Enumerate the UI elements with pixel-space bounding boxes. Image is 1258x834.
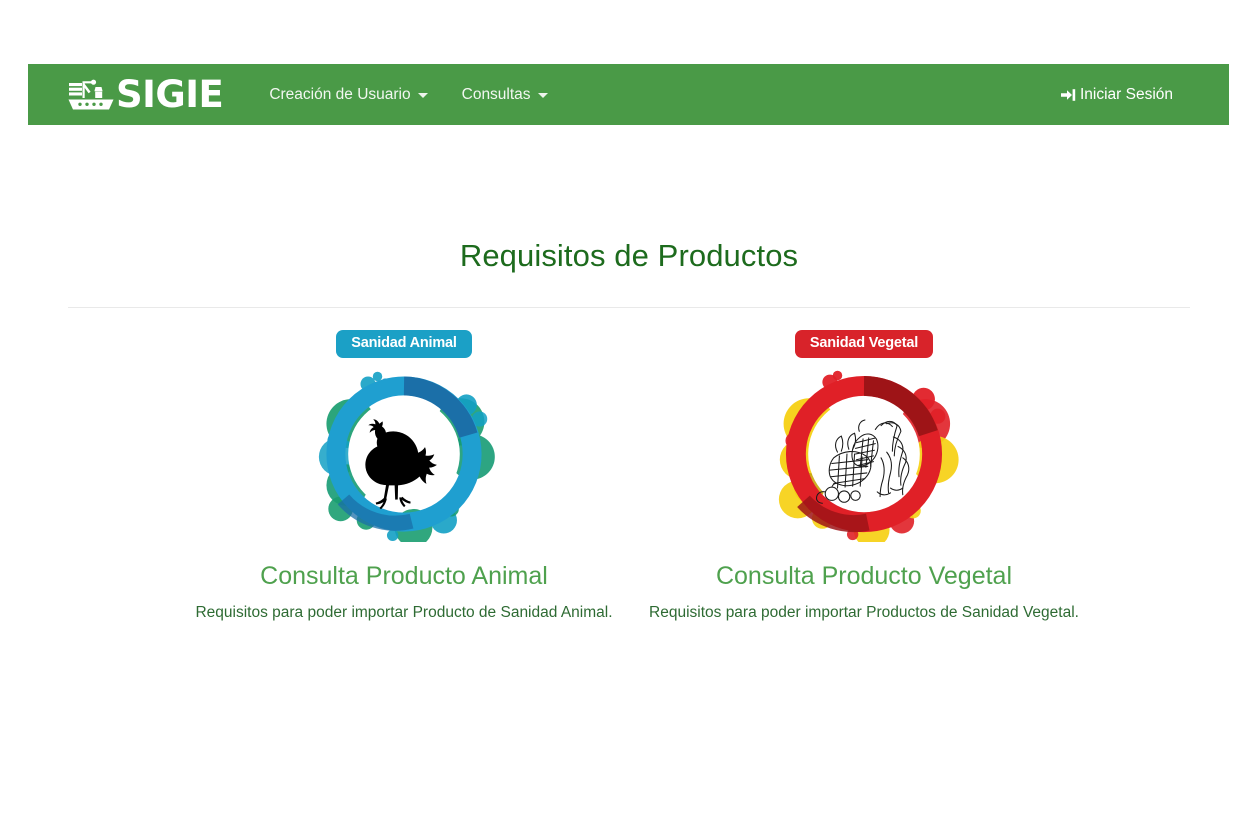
login-label: Iniciar Sesión [1080, 87, 1173, 103]
ship-crane-icon [68, 78, 114, 112]
brand-text: SIGIE [116, 76, 223, 113]
chevron-down-icon [538, 93, 548, 98]
hen-emblem-icon [309, 367, 499, 542]
navbar-right: Iniciar Sesión [1060, 87, 1173, 103]
page-title: Requisitos de Productos [0, 125, 1258, 271]
card-title: Consulta Producto Animal [260, 564, 548, 589]
login-button[interactable]: Iniciar Sesión [1060, 87, 1173, 103]
title-divider [68, 307, 1190, 308]
status-badge-sanidad-animal: Sanidad Animal [336, 330, 471, 358]
nav-links: Creación de Usuario Consultas [269, 87, 547, 103]
produce-emblem-icon [769, 367, 959, 542]
nav-item-label: Consultas [462, 87, 531, 103]
card-title: Consulta Producto Vegetal [716, 564, 1012, 589]
nav-item-consultas[interactable]: Consultas [462, 87, 548, 103]
card-consulta-producto-vegetal[interactable]: Sanidad Vegetal [634, 330, 1094, 622]
top-navbar: SIGIE Creación de Usuario Consultas [28, 64, 1229, 125]
card-grid: Sanidad Animal [0, 330, 1258, 622]
chevron-down-icon [418, 93, 428, 98]
nav-item-creacion-de-usuario[interactable]: Creación de Usuario [269, 87, 427, 103]
nav-item-label: Creación de Usuario [269, 87, 410, 103]
card-description: Requisitos para poder importar Producto … [195, 604, 612, 623]
card-description: Requisitos para poder importar Productos… [649, 604, 1079, 623]
main-content: Requisitos de Productos Sanidad Animal [0, 125, 1258, 622]
brand-logo[interactable]: SIGIE [68, 76, 223, 113]
sign-in-icon [1060, 87, 1076, 103]
card-consulta-producto-animal[interactable]: Sanidad Animal [174, 330, 634, 622]
status-badge-sanidad-vegetal: Sanidad Vegetal [795, 330, 933, 358]
page-root: SIGIE Creación de Usuario Consultas [0, 0, 1258, 834]
